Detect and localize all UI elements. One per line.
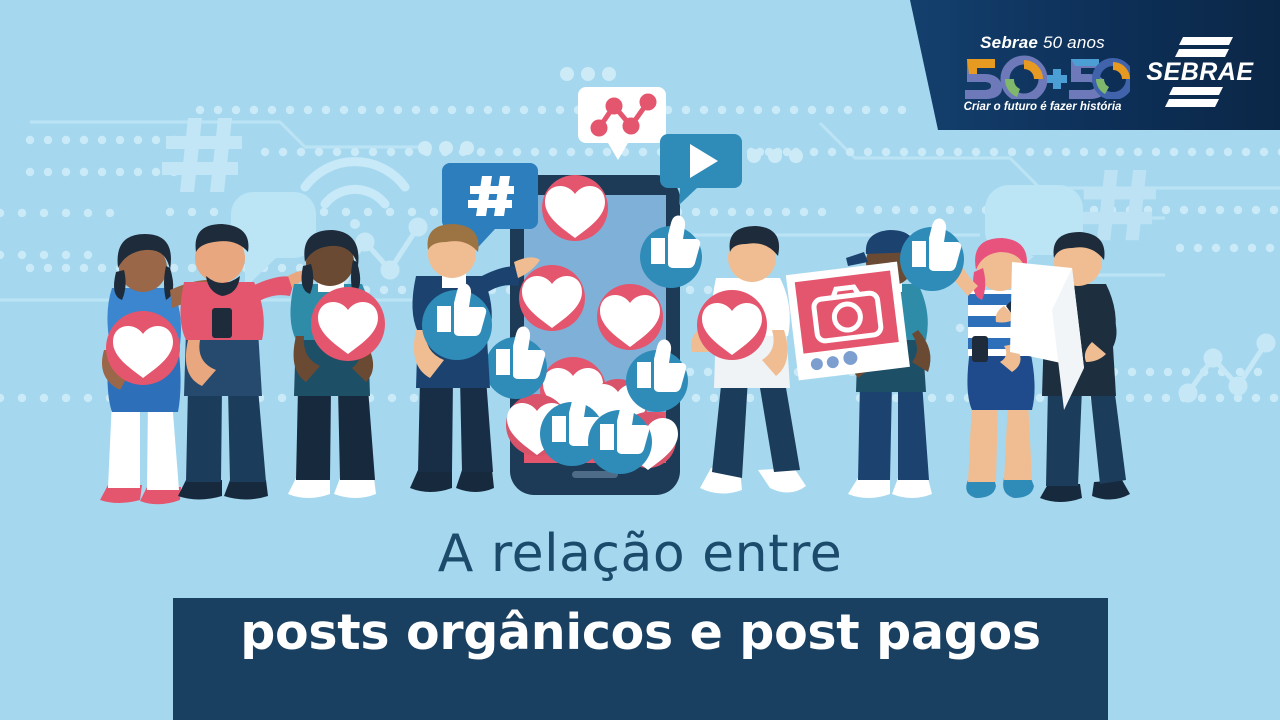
anniversary-mark-glyph xyxy=(965,59,1130,99)
page-title-line2: posts orgânicos e post pagos xyxy=(173,604,1108,661)
person-man-white-shirt xyxy=(691,226,806,494)
anniversary-suffix: 50 anos xyxy=(1038,33,1105,52)
photo-post-card xyxy=(786,262,910,381)
heart-badge xyxy=(311,287,385,361)
person-woman-teal-top xyxy=(288,230,376,498)
heart-badge xyxy=(542,175,608,241)
sebrae-bars-bottom xyxy=(1165,87,1223,107)
anniversary-prefix: Sebrae xyxy=(980,33,1038,52)
anniversary-tagline: Criar o futuro é fazer história xyxy=(955,100,1130,114)
page-title-line1: A relação entre xyxy=(0,524,1280,584)
heart-badge xyxy=(597,284,663,350)
anniversary-mark-50-50 xyxy=(955,53,1130,99)
heart-badge xyxy=(106,311,180,385)
sebrae-logo: SEBRAE xyxy=(1145,33,1255,111)
anniversary-title: Sebrae 50 anos xyxy=(955,34,1130,52)
anniversary-logo: Sebrae 50 anos xyxy=(955,34,1130,114)
person-man-red-shirt xyxy=(178,224,308,500)
heart-badge xyxy=(519,265,585,331)
sebrae-bars-top xyxy=(1175,37,1233,57)
sebrae-wordmark: SEBRAE xyxy=(1145,58,1255,86)
heart-badge xyxy=(697,290,767,360)
thumbs-up-badge xyxy=(900,219,964,291)
poster-canvas: Sebrae 50 anos xyxy=(0,0,1280,720)
